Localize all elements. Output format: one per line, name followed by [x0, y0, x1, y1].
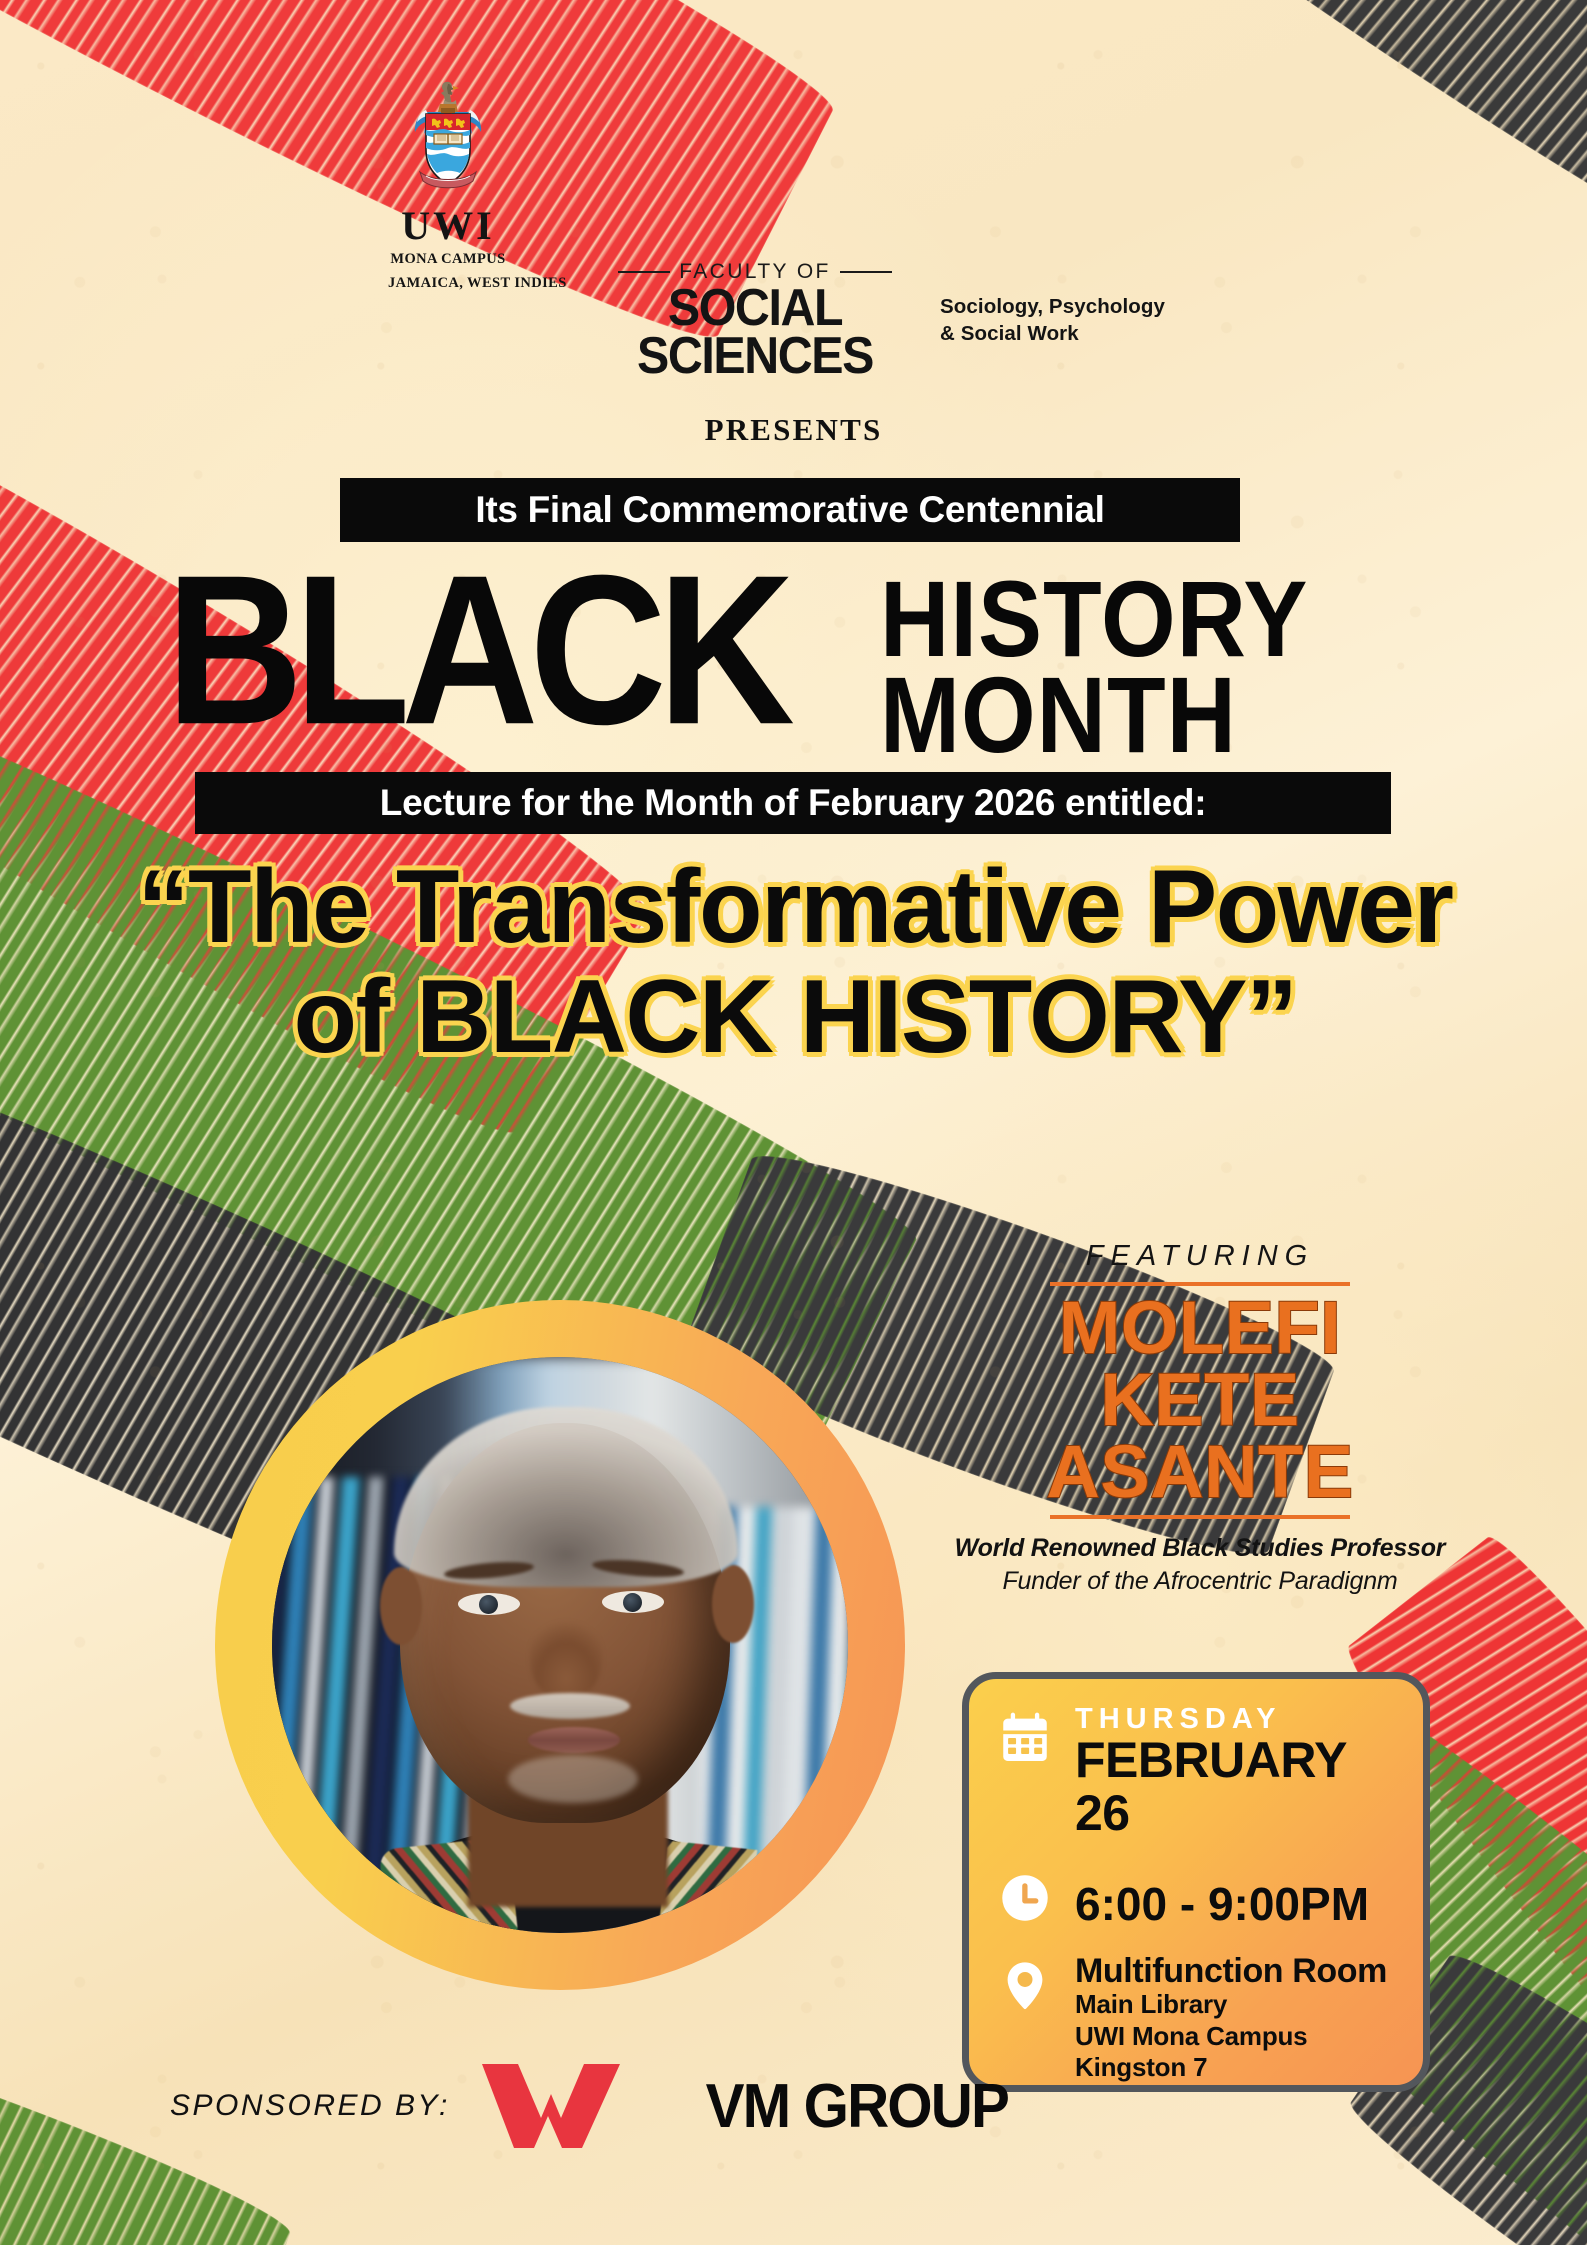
- event-time: 6:00 - 9:00PM: [1075, 1865, 1369, 1927]
- venue-text-block: Multifunction Room Main Library UWI Mona…: [1075, 1953, 1387, 2084]
- nose: [530, 1619, 602, 1701]
- chin-beard: [508, 1755, 638, 1803]
- time-row: 6:00 - 9:00PM: [995, 1865, 1401, 1927]
- speaker-name-line-3: ASANTE: [940, 1436, 1460, 1508]
- featuring-rule-bottom: [1050, 1515, 1350, 1519]
- uwi-crest-icon: [396, 78, 500, 202]
- department-line-2: & Social Work: [940, 320, 1270, 347]
- portrait-photo: [272, 1357, 848, 1933]
- faculty-logo-block: FACULTY OF SOCIAL SCIENCES: [575, 260, 935, 381]
- date-row: THURSDAY FEBRUARY 26: [995, 1705, 1401, 1839]
- event-weekday: THURSDAY: [1075, 1705, 1401, 1734]
- featuring-block: FEATURING MOLEFI KETE ASANTE World Renow…: [940, 1240, 1460, 1596]
- scarf-right: [657, 1841, 758, 1933]
- title-word-month: MONTH: [880, 666, 1237, 766]
- uwi-abbreviation: UWI: [388, 206, 508, 246]
- speaker-name-line-2: KETE: [940, 1364, 1460, 1436]
- rule-left: [618, 271, 670, 273]
- speaker-credential: World Renowned Black Studies Professor: [940, 1534, 1460, 1563]
- eye-right: [602, 1591, 664, 1613]
- uwi-location: JAMAICA, WEST INDIES: [388, 274, 508, 294]
- rule-right: [840, 271, 892, 273]
- faculty-name: SOCIAL SCIENCES: [588, 285, 923, 381]
- featuring-label: FEATURING: [940, 1240, 1460, 1273]
- venue-row: Multifunction Room Main Library UWI Mona…: [995, 1953, 1401, 2084]
- header: UWI MONA CAMPUS JAMAICA, WEST INDIES FAC…: [0, 78, 1587, 278]
- ear-left: [380, 1567, 422, 1645]
- lecture-title: “The Transformative Power of BLACK HISTO…: [95, 852, 1495, 1072]
- speaker-name-line-1: MOLEFI: [940, 1292, 1460, 1364]
- event-date: FEBRUARY 26: [1075, 1734, 1401, 1839]
- venue-line-2: Main Library: [1075, 1989, 1387, 2021]
- department-block: Sociology, Psychology & Social Work: [940, 293, 1270, 347]
- uwi-campus: MONA CAMPUS: [388, 250, 508, 270]
- speaker-subtitle: Funder of the Afrocentric Paradignm: [940, 1567, 1460, 1596]
- vm-group-logo-icon: [478, 2060, 668, 2152]
- event-details-card: THURSDAY FEBRUARY 26 6:00 - 9:00PM: [962, 1672, 1430, 2092]
- venue-name: Multifunction Room: [1075, 1953, 1387, 1989]
- lecture-banner: Lecture for the Month of February 2026 e…: [195, 772, 1391, 834]
- uwi-logo-block: UWI MONA CAMPUS JAMAICA, WEST INDIES: [388, 78, 508, 293]
- ear-right: [712, 1565, 754, 1643]
- black-history-month-title: BLACK HISTORY MONTH: [0, 552, 1587, 762]
- title-word-black: BLACK: [166, 544, 786, 757]
- clock-icon: [995, 1865, 1055, 1927]
- mustache: [510, 1693, 630, 1719]
- date-text-block: THURSDAY FEBRUARY 26: [1075, 1705, 1401, 1839]
- department-line-1: Sociology, Psychology: [940, 293, 1270, 320]
- eye-left: [458, 1593, 520, 1615]
- venue-line-4: Kingston 7: [1075, 2052, 1387, 2084]
- location-pin-icon: [995, 1953, 1055, 2015]
- pupil-right: [623, 1593, 642, 1612]
- poster-canvas: UWI MONA CAMPUS JAMAICA, WEST INDIES FAC…: [0, 0, 1587, 2245]
- pupil-left: [479, 1595, 498, 1614]
- mouth: [528, 1727, 620, 1753]
- calendar-icon: [995, 1705, 1055, 1767]
- speaker-portrait: [215, 1300, 905, 1990]
- sponsor-label: SPONSORED BY:: [170, 2089, 450, 2123]
- venue-line-3: UWI Mona Campus: [1075, 2021, 1387, 2053]
- presents-label: PRESENTS: [0, 412, 1587, 448]
- sponsor-block: SPONSORED BY: VM GROUP: [170, 2060, 1017, 2152]
- sponsor-name: VM GROUP: [705, 2071, 1007, 2142]
